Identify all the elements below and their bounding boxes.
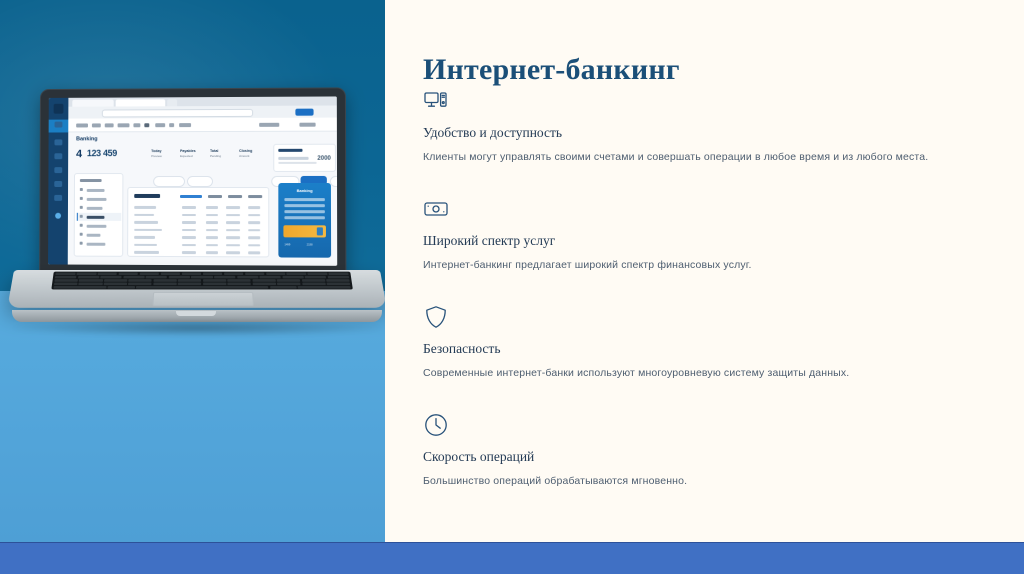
screen-promo-stat-left: 1499 xyxy=(284,241,290,247)
screen-sidebar-icon xyxy=(54,153,62,159)
screen-kpi: TotalPending xyxy=(210,149,221,158)
screen-dashboard-title: Banking xyxy=(76,136,97,142)
screen-filter-pill xyxy=(330,176,337,187)
screen-app-sidebar xyxy=(48,98,68,265)
screen-sidebar-icon xyxy=(54,181,62,187)
screen-summary-card: 2000 xyxy=(273,144,336,172)
feature-description: Клиенты могут управлять своими счетами и… xyxy=(423,151,1004,163)
screen-promo-card: Banking 1499 2190 xyxy=(278,183,331,258)
laptop-keyboard xyxy=(51,272,353,290)
footer-bar xyxy=(0,542,1024,574)
feature-title: Безопасность xyxy=(423,341,1004,357)
feature-item-speed: Скорость операций Большинство операций о… xyxy=(423,412,1004,487)
clock-icon xyxy=(423,412,449,438)
screen-sidebar-icon xyxy=(54,167,62,173)
screen-browser-newtab xyxy=(167,99,177,106)
screen-filter-pill xyxy=(187,176,213,187)
banknote-icon xyxy=(423,196,449,222)
screen-promo-card-chip xyxy=(317,227,323,235)
feature-title: Удобство и доступность xyxy=(423,125,1004,141)
screen-table-header xyxy=(134,194,160,198)
screen-kpi: TodayPreview xyxy=(151,149,162,158)
feature-item-services: Широкий спектр услуг Интернет-банкинг пр… xyxy=(423,196,1004,271)
screen-sidebar-logo xyxy=(54,104,64,114)
slide-root: Banking 4 123 459 TodayPreview PayablesE… xyxy=(0,0,1024,574)
laptop-base-top xyxy=(7,270,385,308)
screen-url-field xyxy=(102,109,253,118)
feature-description: Современные интернет-банки используют мн… xyxy=(423,367,1004,379)
laptop-illustration: Banking 4 123 459 TodayPreview PayablesE… xyxy=(8,88,385,348)
feature-list: Удобство и доступность Клиенты могут упр… xyxy=(423,88,1004,487)
laptop-base xyxy=(8,270,385,328)
screen-promo-creditcard xyxy=(283,225,326,237)
screen-sidebar-icon xyxy=(54,195,62,201)
laptop-trackpad xyxy=(153,292,254,306)
feature-title: Широкий спектр услуг xyxy=(423,233,1004,249)
screen-kpi: PayablesExpected xyxy=(180,149,196,158)
screen-app-main: Banking 4 123 459 TodayPreview PayablesE… xyxy=(68,96,337,265)
laptop-screen: Banking 4 123 459 TodayPreview PayablesE… xyxy=(48,96,337,265)
screen-kpi: ClosingAmount xyxy=(239,149,252,158)
laptop-drop-shadow xyxy=(12,320,382,336)
hero-image-panel: Banking 4 123 459 TodayPreview PayablesE… xyxy=(0,0,385,542)
screen-promo-title: Banking xyxy=(278,188,331,193)
feature-item-convenience: Удобство и доступность Клиенты могут упр… xyxy=(423,88,1004,163)
page-title: Интернет-банкинг xyxy=(423,53,680,87)
laptop-lid: Banking 4 123 459 TodayPreview PayablesE… xyxy=(39,87,346,281)
laptop-base-notch xyxy=(176,311,216,316)
screen-sidebar-icon xyxy=(55,213,61,219)
screen-browser-action-button xyxy=(295,109,313,116)
screen-promo-stat-right: 2190 xyxy=(307,241,313,247)
feature-description: Интернет-банкинг предлагает широкий спек… xyxy=(423,259,1004,271)
feature-description: Большинство операций обрабатываются мгно… xyxy=(423,475,1004,487)
feature-title: Скорость операций xyxy=(423,449,1004,465)
content-panel: Интернет-банкинг Удобство и доступность xyxy=(385,0,1024,542)
shield-icon xyxy=(423,304,449,330)
feature-item-security: Безопасность Современные интернет-банки … xyxy=(423,304,1004,379)
screen-sidebar-icon xyxy=(54,139,62,145)
screen-filter-pill xyxy=(153,176,185,187)
desktop-computer-icon xyxy=(423,88,449,114)
screen-nav-card xyxy=(74,173,124,257)
screen-dashboard: Banking 4 123 459 TodayPreview PayablesE… xyxy=(68,131,337,266)
screen-metric-count: 4 xyxy=(76,148,82,160)
screen-table-card xyxy=(127,187,269,257)
screen-sidebar-icon xyxy=(55,122,63,128)
screen-metric-amount: 123 459 xyxy=(87,148,117,158)
